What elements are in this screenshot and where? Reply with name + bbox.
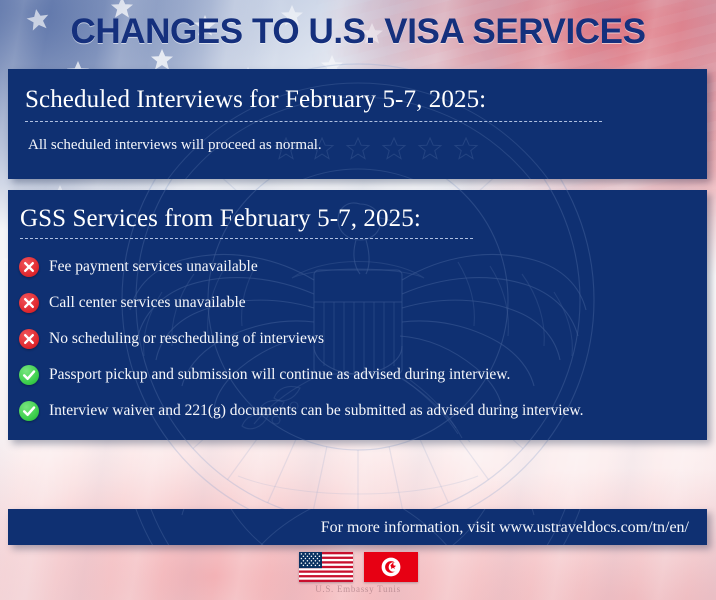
page-title: CHANGES TO U.S. VISA SERVICES [0,12,716,52]
list-item: Interview waiver and 221(g) documents ca… [19,393,699,429]
embassy-caption: U.S. Embassy Tunis [0,584,716,594]
list-item: Passport pickup and submission will cont… [19,357,699,393]
poster-canvas: CHANGES TO U.S. VISA SERVICES [0,0,716,600]
list-item-label: Call center services unavailable [49,293,246,313]
cross-circle-icon [19,293,39,313]
scheduled-interviews-heading: Scheduled Interviews for February 5-7, 2… [25,85,486,115]
check-circle-icon [19,401,39,421]
gss-services-list: Fee payment services unavailable Call ce… [19,249,699,429]
check-circle-icon [19,365,39,385]
more-information-text[interactable]: For more information, visit www.ustravel… [321,518,689,538]
more-information-bar: For more information, visit www.ustravel… [8,509,707,545]
cross-circle-icon [19,329,39,349]
gss-services-heading: GSS Services from February 5-7, 2025: [20,204,421,234]
heading-divider [25,121,602,122]
gss-services-panel: GSS Services from February 5-7, 2025: Fe… [8,190,707,440]
list-item-label: Interview waiver and 221(g) documents ca… [49,401,583,421]
list-item: No scheduling or rescheduling of intervi… [19,321,699,357]
flag-pair [0,552,716,582]
list-item-label: Passport pickup and submission will cont… [49,365,510,385]
tunisia-flag [364,552,418,582]
scheduled-interviews-body: All scheduled interviews will proceed as… [28,135,322,155]
list-item-label: No scheduling or rescheduling of intervi… [49,329,324,349]
list-item: Fee payment services unavailable [19,249,699,285]
list-item: Call center services unavailable [19,285,699,321]
united-states-flag [299,552,353,582]
heading-divider [20,238,473,239]
cross-circle-icon [19,257,39,277]
scheduled-interviews-panel: Scheduled Interviews for February 5-7, 2… [8,69,707,179]
list-item-label: Fee payment services unavailable [49,257,258,277]
